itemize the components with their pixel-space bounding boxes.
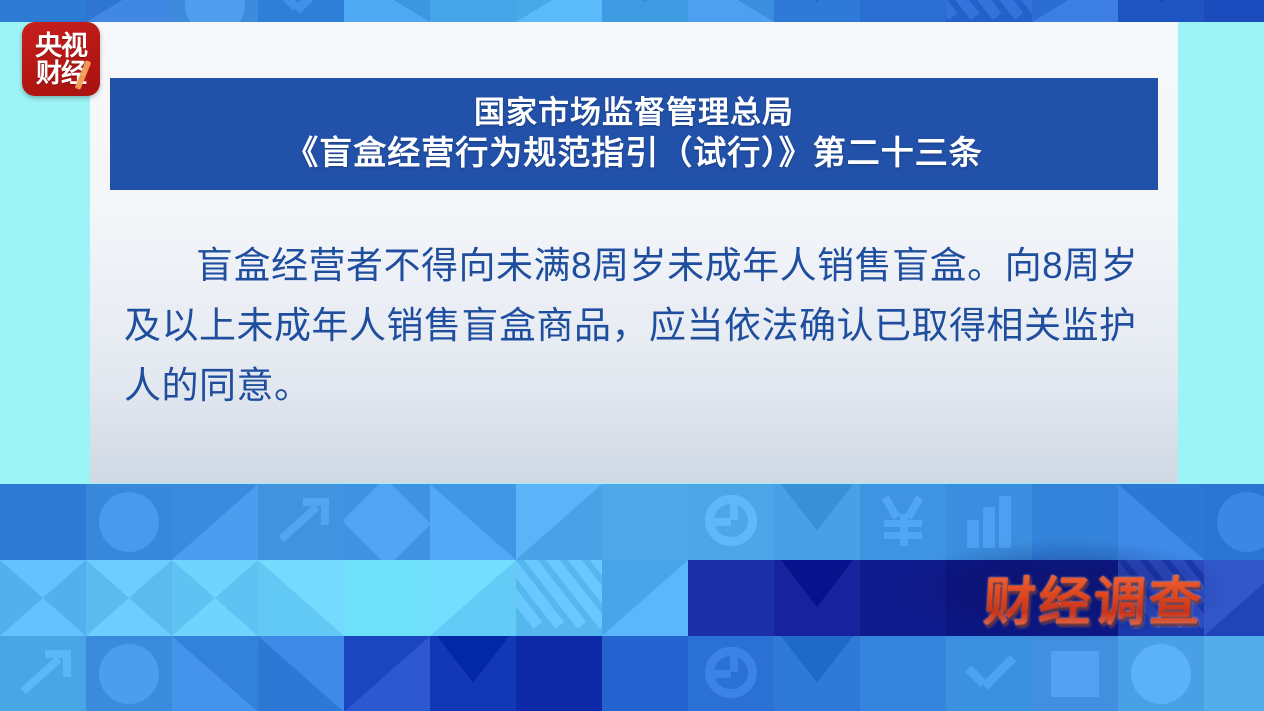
pattern-tile	[1032, 0, 1118, 22]
pattern-tile	[344, 0, 430, 22]
pattern-tile	[86, 560, 172, 636]
pattern-tile	[258, 636, 344, 711]
program-watermark: 财经调查	[982, 560, 1206, 635]
pattern-tile	[258, 484, 344, 560]
pattern-tile	[0, 0, 86, 22]
pattern-tile	[344, 560, 430, 636]
pattern-tile	[946, 0, 1032, 22]
pattern-tile	[0, 636, 86, 711]
pattern-tile	[516, 0, 602, 22]
pattern-tile	[258, 0, 344, 22]
pattern-tile	[86, 636, 172, 711]
card-title-bar: 国家市场监督管理总局 《盲盒经营行为规范指引（试行）》第二十三条	[110, 78, 1158, 190]
broadcast-frame: 国家市场监督管理总局 《盲盒经营行为规范指引（试行）》第二十三条 盲盒经营者不得…	[0, 0, 1264, 711]
pattern-tile	[860, 560, 946, 636]
pattern-tile	[0, 484, 86, 560]
pattern-tile	[774, 484, 860, 560]
pattern-tile	[430, 636, 516, 711]
pattern-tile	[1204, 0, 1264, 22]
card-body-text: 盲盒经营者不得向未满8周岁未成年人销售盲盒。向8周岁及以上未成年人销售盲盒商品，…	[124, 236, 1164, 416]
pattern-tile	[258, 560, 344, 636]
pattern-tile	[774, 636, 860, 711]
pattern-tile	[344, 484, 430, 560]
top-pattern-band	[0, 0, 1264, 22]
cctv-finance-logo: 央视 财经	[22, 22, 100, 96]
pattern-tile	[688, 560, 774, 636]
pattern-tile	[1204, 636, 1264, 711]
pattern-tile	[430, 560, 516, 636]
pattern-tile	[1118, 636, 1204, 711]
pattern-tile	[688, 0, 774, 22]
pattern-tile	[946, 636, 1032, 711]
pattern-tile	[1204, 484, 1264, 560]
pattern-tile	[602, 484, 688, 560]
pattern-tile	[516, 560, 602, 636]
pattern-tile	[1118, 484, 1204, 560]
pattern-tile	[1118, 0, 1204, 22]
pattern-tile	[172, 484, 258, 560]
pattern-tile	[1032, 636, 1118, 711]
pattern-tile	[172, 560, 258, 636]
pattern-tile	[1032, 484, 1118, 560]
pattern-tile	[516, 636, 602, 711]
pattern-tile	[602, 636, 688, 711]
pattern-tile	[860, 484, 946, 560]
pattern-tile	[860, 0, 946, 22]
pattern-tile	[430, 0, 516, 22]
title-line-regulation: 《盲盒经营行为规范指引（试行）》第二十三条	[285, 133, 983, 173]
pattern-tile	[86, 0, 172, 22]
pattern-tile	[1204, 560, 1264, 636]
pattern-tile	[172, 636, 258, 711]
pattern-tile	[688, 484, 774, 560]
pattern-tile	[602, 0, 688, 22]
pattern-tile	[0, 560, 86, 636]
pattern-tile	[344, 636, 430, 711]
pattern-tile	[946, 484, 1032, 560]
logo-line-1: 央视	[35, 31, 87, 61]
pattern-tile	[774, 560, 860, 636]
pattern-tile	[860, 636, 946, 711]
pattern-tile	[516, 484, 602, 560]
pattern-tile	[774, 0, 860, 22]
pattern-tile	[602, 560, 688, 636]
pattern-tile	[172, 0, 258, 22]
title-line-agency: 国家市场监督管理总局	[474, 95, 794, 131]
pattern-tile	[430, 484, 516, 560]
pattern-tile	[688, 636, 774, 711]
pattern-tile	[86, 484, 172, 560]
